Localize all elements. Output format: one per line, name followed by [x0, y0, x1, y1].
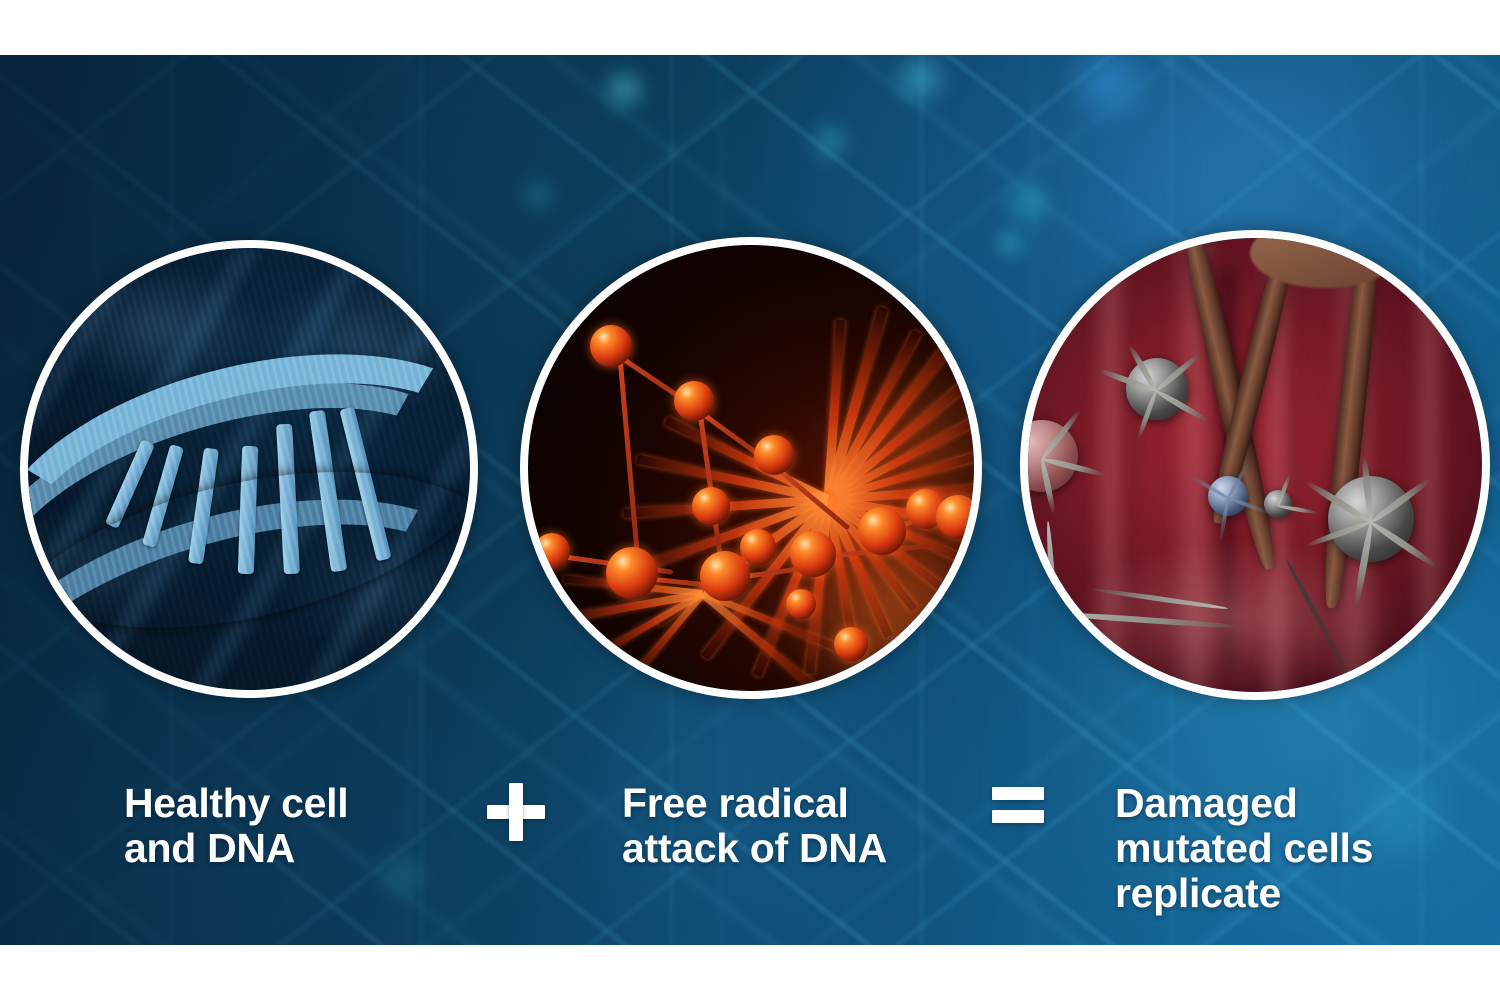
molecule-bond — [618, 357, 642, 575]
free-radical-illustration — [528, 245, 974, 691]
caption-healthy-dna: Healthy cell and DNA — [124, 781, 454, 871]
radical-atom — [606, 547, 658, 599]
caption-free-radical: Free radical attack of DNA — [622, 781, 972, 871]
dna-illustration — [28, 248, 470, 690]
panel-image-mutated-cells — [1020, 230, 1490, 700]
equals-bottom-bar — [992, 810, 1044, 823]
infographic-canvas: Healthy cell and DNA Free radical attack… — [0, 0, 1500, 1000]
mutated-cells-illustration — [1028, 238, 1482, 692]
dna-texture — [28, 248, 470, 690]
radical-atom — [754, 435, 794, 475]
artwork-band: Healthy cell and DNA Free radical attack… — [0, 55, 1500, 945]
radical-atom — [700, 551, 750, 601]
mutated-cell — [1028, 420, 1078, 492]
plus-sign-icon — [487, 783, 545, 841]
radical-atom — [790, 531, 836, 577]
radical-atom — [692, 487, 730, 525]
radical-atom — [740, 529, 776, 565]
equals-sign-icon — [992, 787, 1044, 823]
equals-top-bar — [992, 787, 1044, 800]
radical-atom — [590, 325, 632, 367]
panel-image-healthy-dna — [20, 240, 478, 698]
radical-atom — [534, 533, 570, 569]
radical-atom — [858, 507, 906, 555]
radical-spike — [636, 455, 829, 504]
radical-atom — [834, 627, 868, 661]
caption-row: Healthy cell and DNA Free radical attack… — [0, 761, 1500, 941]
panel-image-free-radical — [520, 237, 982, 699]
radical-atom — [674, 381, 714, 421]
caption-mutated-cells: Damaged mutated cells replicate — [1115, 781, 1445, 916]
radical-atom — [786, 589, 816, 619]
radical-atom — [936, 495, 974, 539]
plus-vertical-bar — [509, 783, 523, 841]
